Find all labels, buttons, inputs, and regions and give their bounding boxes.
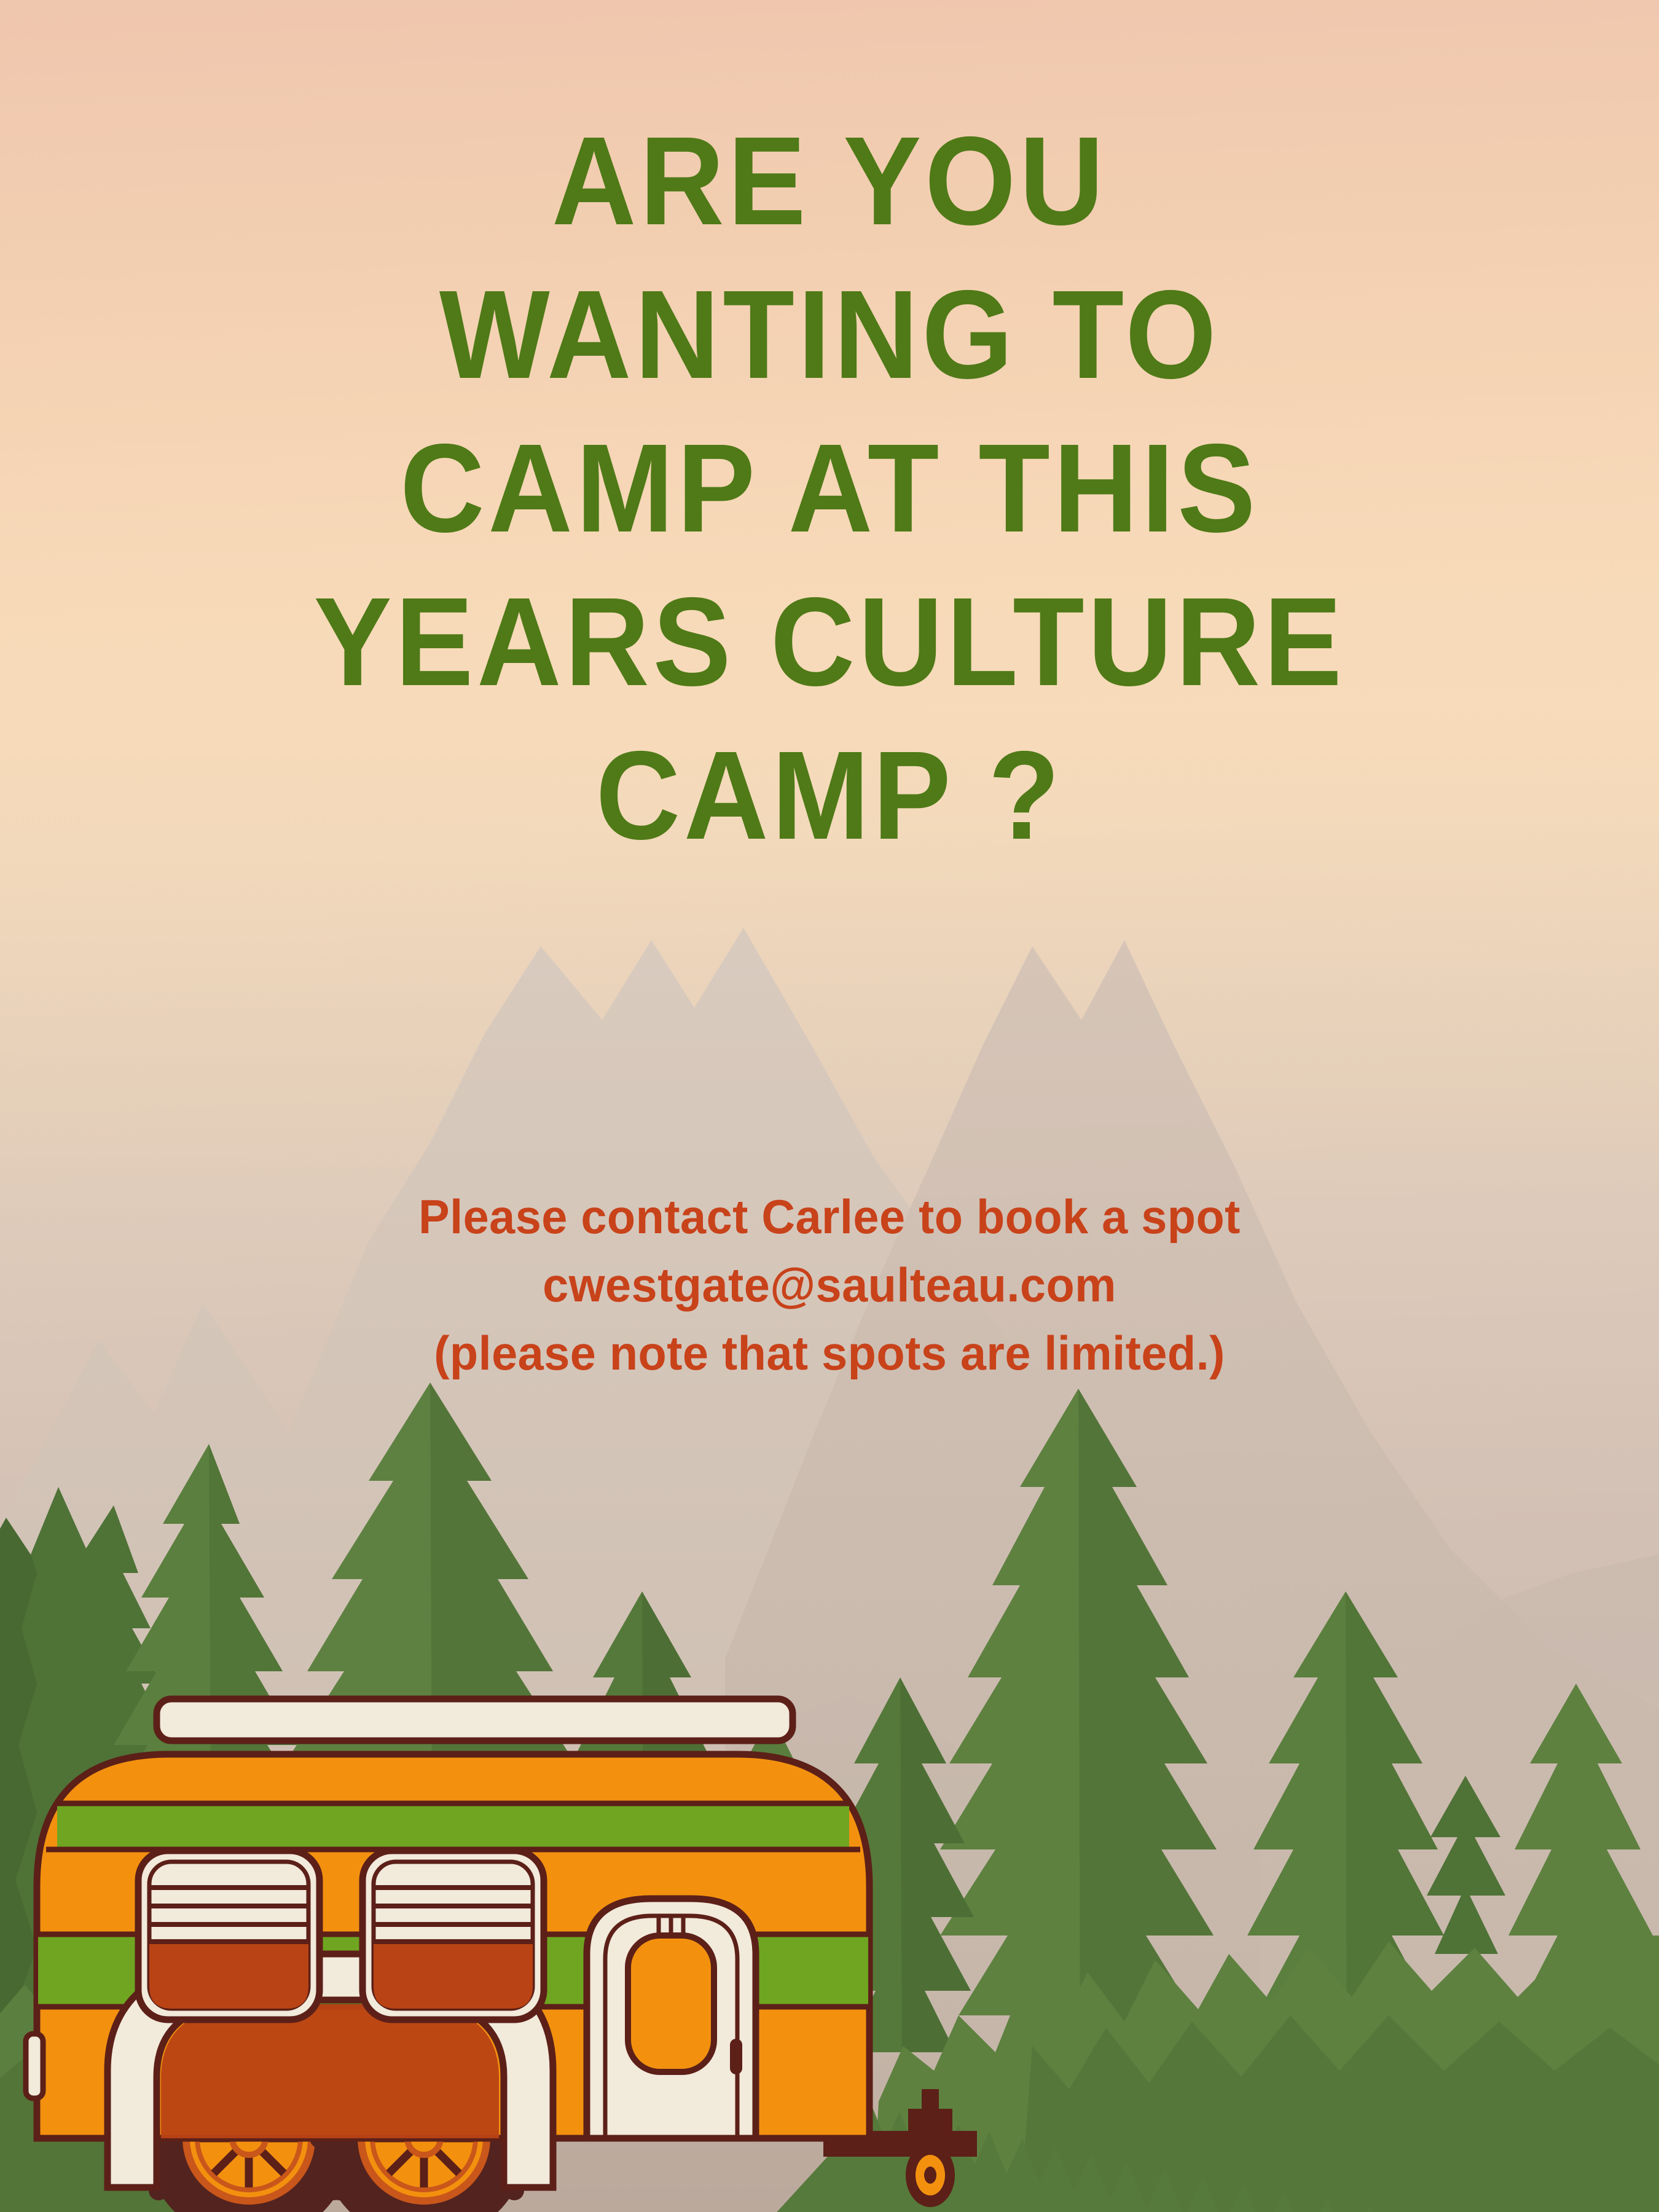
camper-body: [26, 1699, 869, 2187]
camper-trailer-illustration: [0, 0, 1659, 2212]
camper-window-right: [363, 1851, 544, 2020]
camper-door[interactable]: [587, 1899, 756, 2138]
camper-window-left: [138, 1851, 320, 2020]
roof-rack: [157, 1699, 793, 1741]
poster-canvas: ARE YOU WANTING TO CAMP AT THIS YEARS CU…: [0, 0, 1659, 2212]
camper-trailer: [26, 1699, 977, 2212]
door-handle: [730, 2039, 742, 2074]
